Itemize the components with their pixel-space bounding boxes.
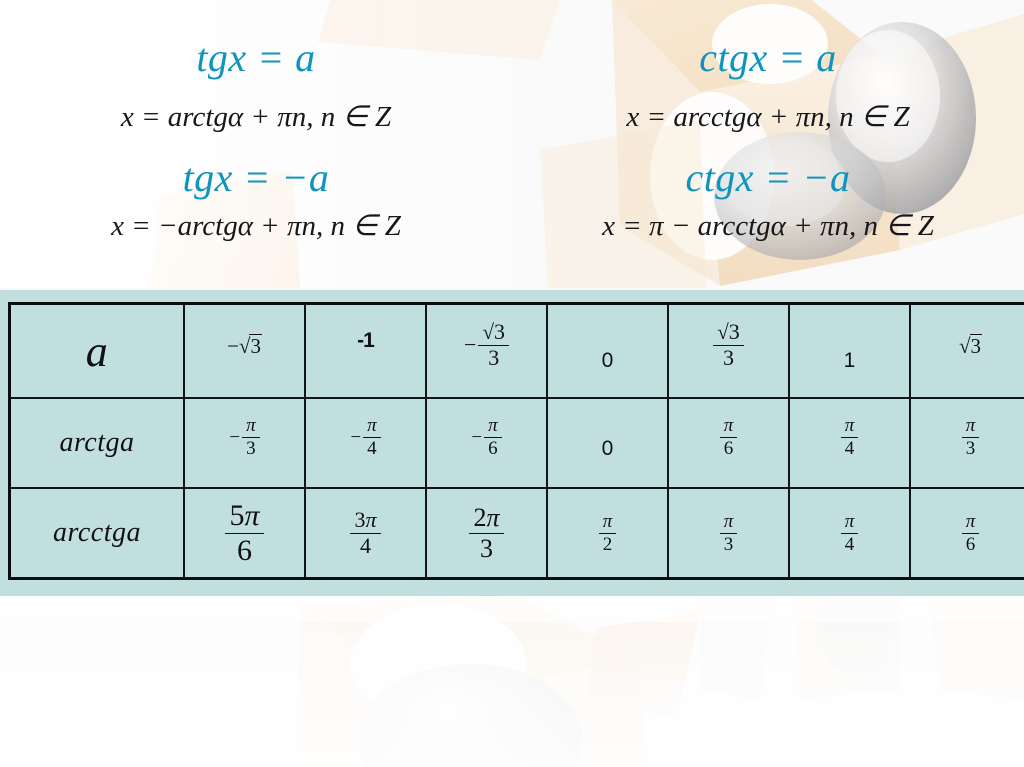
numerator-coefficient: 3 bbox=[354, 507, 365, 532]
cell-arctg-5: π 6 bbox=[668, 398, 789, 488]
cell-a-7: √3 bbox=[910, 304, 1024, 399]
table-row-arcctg: arcctga 5π 6 bbox=[10, 488, 1024, 579]
value-pi-over-3: π 3 bbox=[720, 512, 738, 555]
fraction-denominator: 3 bbox=[484, 346, 503, 370]
formula-heading-ctgx-equals-neg-a: ctgx = −a bbox=[512, 158, 1024, 198]
value-neg-sqrt3-over-3: − √3 3 bbox=[464, 321, 509, 370]
row-label-a-cell: a bbox=[10, 304, 185, 399]
fraction-numerator: π bbox=[484, 416, 502, 438]
formula-heading-tgx-equals-a: tgx = a bbox=[0, 38, 512, 78]
fraction-numerator: 5π bbox=[225, 500, 263, 533]
formula-solution-tgx-equals-a: x = arctgα + πn, n ∈ Z bbox=[0, 103, 512, 132]
fraction-numerator: π bbox=[363, 416, 381, 438]
slide-canvas: tgx = a x = arctgα + πn, n ∈ Z tgx = −a … bbox=[0, 0, 1024, 767]
cell-arcctg-5: π 3 bbox=[668, 488, 789, 579]
fraction-denominator: 3 bbox=[242, 438, 260, 459]
pi-symbol: π bbox=[365, 507, 376, 532]
value-neg-sqrt3: −√3 bbox=[227, 334, 262, 357]
fraction: π 3 bbox=[962, 416, 980, 459]
fraction: π 6 bbox=[484, 416, 502, 459]
value-neg-one: -1 bbox=[357, 330, 374, 351]
radicand: 3 bbox=[970, 334, 983, 357]
cell-arctg-2: − π 4 bbox=[305, 398, 426, 488]
fraction-numerator: π bbox=[841, 512, 859, 534]
fraction-numerator: π bbox=[720, 512, 738, 534]
minus-sign: − bbox=[229, 428, 240, 447]
fraction-denominator: 6 bbox=[484, 438, 502, 459]
minus-sign: − bbox=[227, 334, 239, 358]
fraction: π 4 bbox=[363, 416, 381, 459]
fraction-denominator: 2 bbox=[599, 534, 617, 555]
value-neg-pi-over-6: − π 6 bbox=[471, 416, 501, 459]
cell-arcctg-1: 5π 6 bbox=[184, 488, 305, 579]
value-pi-over-2: π 2 bbox=[599, 512, 617, 555]
cell-a-6: 1 bbox=[789, 304, 910, 399]
cell-arctg-4: 0 bbox=[547, 398, 668, 488]
fraction-numerator: π bbox=[962, 512, 980, 534]
fraction: π 6 bbox=[962, 512, 980, 555]
fraction-numerator: 2π bbox=[469, 504, 503, 533]
value-pi-over-4: π 4 bbox=[841, 416, 859, 459]
value-3pi-over-4: 3π 4 bbox=[350, 509, 380, 558]
cell-arcctg-7: π 6 bbox=[910, 488, 1024, 579]
pi-symbol: π bbox=[486, 503, 499, 532]
cell-arcctg-3: 2π 3 bbox=[426, 488, 547, 579]
cell-a-4: 0 bbox=[547, 304, 668, 399]
row-label-arctg: arctga bbox=[59, 427, 134, 459]
pi-symbol: π bbox=[244, 499, 259, 532]
fraction: √3 3 bbox=[713, 321, 744, 370]
radical-icon: √ bbox=[482, 320, 494, 344]
fraction-denominator: 4 bbox=[356, 534, 375, 558]
fraction: √3 3 bbox=[478, 321, 509, 370]
fraction-denominator: 6 bbox=[962, 534, 980, 555]
table-row-arctg: arctga − π 3 bbox=[10, 398, 1024, 488]
fraction-denominator: 3 bbox=[962, 438, 980, 459]
formula-solution-tgx-equals-neg-a: x = −arctgα + πn, n ∈ Z bbox=[0, 212, 512, 241]
cell-a-1: −√3 bbox=[184, 304, 305, 399]
minus-sign: − bbox=[471, 428, 482, 447]
fraction-denominator: 3 bbox=[719, 346, 738, 370]
cell-arctg-3: − π 6 bbox=[426, 398, 547, 488]
value-pi-over-6: π 6 bbox=[720, 416, 738, 459]
formula-area: tgx = a x = arctgα + πn, n ∈ Z tgx = −a … bbox=[0, 0, 1024, 288]
fraction: 5π 6 bbox=[225, 500, 263, 565]
numerator-coefficient: 2 bbox=[473, 503, 486, 532]
cell-arcctg-6: π 4 bbox=[789, 488, 910, 579]
radicand: 3 bbox=[249, 334, 262, 357]
fraction-numerator: π bbox=[720, 416, 738, 438]
cell-a-5: √3 3 bbox=[668, 304, 789, 399]
fraction-denominator: 3 bbox=[476, 534, 497, 562]
row-label-arctg-cell: arctga bbox=[10, 398, 185, 488]
value-neg-pi-over-3: − π 3 bbox=[229, 416, 259, 459]
fraction-denominator: 6 bbox=[720, 438, 738, 459]
fraction: π 3 bbox=[242, 416, 260, 459]
value-pi-over-4: π 4 bbox=[841, 512, 859, 555]
value-sqrt3: √3 bbox=[959, 334, 982, 357]
row-label-a: a bbox=[86, 326, 109, 377]
fraction-denominator: 3 bbox=[720, 534, 738, 555]
table-row-a: a −√3 -1 bbox=[10, 304, 1024, 399]
fraction-denominator: 4 bbox=[363, 438, 381, 459]
fraction: π 4 bbox=[841, 512, 859, 555]
fraction-denominator: 4 bbox=[841, 534, 859, 555]
cell-arcctg-2: 3π 4 bbox=[305, 488, 426, 579]
fraction-numerator: π bbox=[242, 416, 260, 438]
bg-shape-cluster-bottom bbox=[296, 596, 1024, 767]
cell-arcctg-4: π 2 bbox=[547, 488, 668, 579]
radicand: 3 bbox=[729, 319, 740, 344]
numerator-coefficient: 5 bbox=[229, 499, 244, 532]
cell-a-3: − √3 3 bbox=[426, 304, 547, 399]
value-zero: 0 bbox=[602, 438, 614, 459]
formula-solution-ctgx-equals-a: x = arcctgα + πn, n ∈ Z bbox=[512, 103, 1024, 132]
fraction-numerator: √3 bbox=[713, 321, 744, 346]
value-one: 1 bbox=[844, 350, 856, 371]
cell-arctg-1: − π 3 bbox=[184, 398, 305, 488]
fraction-numerator: 3π bbox=[350, 509, 380, 534]
cell-arctg-7: π 3 bbox=[910, 398, 1024, 488]
fraction: π 4 bbox=[841, 416, 859, 459]
fraction-denominator: 4 bbox=[841, 438, 859, 459]
value-sqrt3-over-3: √3 3 bbox=[713, 321, 744, 370]
arctg-arcctg-values-table: a −√3 -1 bbox=[8, 302, 1024, 580]
value-neg-pi-over-4: − π 4 bbox=[350, 416, 380, 459]
value-pi-over-6: π 6 bbox=[962, 512, 980, 555]
value-pi-over-3: π 3 bbox=[962, 416, 980, 459]
formula-column-tangent: tgx = a x = arctgα + πn, n ∈ Z tgx = −a … bbox=[0, 0, 512, 288]
row-label-arcctg-cell: arcctga bbox=[10, 488, 185, 579]
fraction-numerator: π bbox=[962, 416, 980, 438]
fraction: π 3 bbox=[720, 512, 738, 555]
minus-sign: − bbox=[464, 334, 476, 356]
fraction: π 6 bbox=[720, 416, 738, 459]
fraction-denominator: 6 bbox=[233, 534, 256, 566]
cell-arctg-6: π 4 bbox=[789, 398, 910, 488]
radicand: 3 bbox=[494, 319, 505, 344]
fraction-numerator: π bbox=[599, 512, 617, 534]
row-label-arcctg: arcctga bbox=[53, 517, 141, 549]
cell-a-2: -1 bbox=[305, 304, 426, 399]
minus-sign: − bbox=[350, 428, 361, 447]
formula-solution-ctgx-equals-neg-a: x = π − arcctgα + πn, n ∈ Z bbox=[512, 212, 1024, 241]
value-zero: 0 bbox=[602, 350, 614, 371]
value-5pi-over-6: 5π 6 bbox=[225, 500, 263, 565]
formula-heading-ctgx-equals-a: ctgx = a bbox=[512, 38, 1024, 78]
formula-column-cotangent: ctgx = a x = arcctgα + πn, n ∈ Z ctgx = … bbox=[512, 0, 1024, 288]
formula-heading-tgx-equals-neg-a: tgx = −a bbox=[0, 158, 512, 198]
fraction-numerator: √3 bbox=[478, 321, 509, 346]
radical-icon: √ bbox=[717, 320, 729, 344]
fraction: 2π 3 bbox=[469, 504, 503, 561]
value-2pi-over-3: 2π 3 bbox=[469, 504, 503, 561]
fraction: 3π 4 bbox=[350, 509, 380, 558]
fraction: π 2 bbox=[599, 512, 617, 555]
fraction-numerator: π bbox=[841, 416, 859, 438]
